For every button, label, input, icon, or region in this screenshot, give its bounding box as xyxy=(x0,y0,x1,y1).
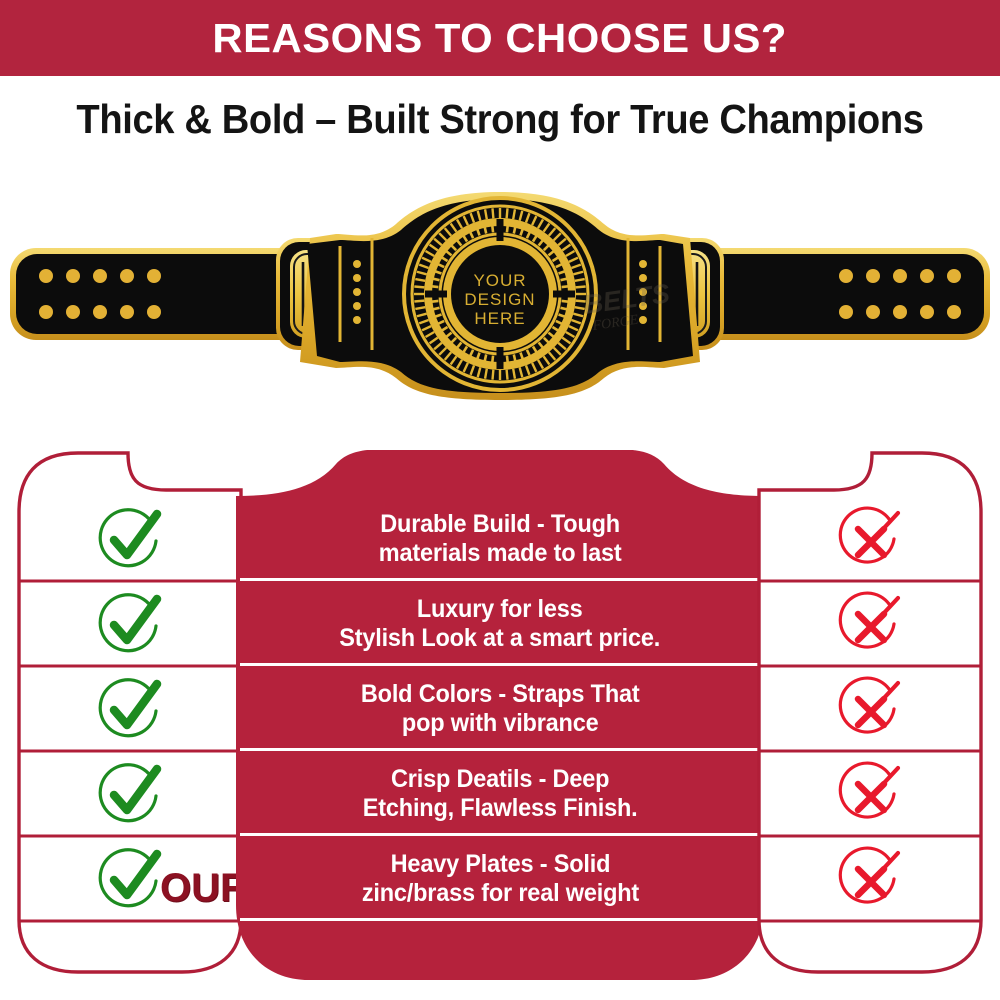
check-circle-icon xyxy=(94,588,166,660)
center-plate-line-1: YOUR xyxy=(473,271,526,290)
feature-text: Durable Build - Tough materials made to … xyxy=(379,510,622,567)
check-circle-icon xyxy=(94,673,166,745)
others-marks xyxy=(756,450,984,975)
others-cell xyxy=(756,496,984,581)
cross-circle-icon xyxy=(834,843,906,915)
belt-svg: YOUR LOGO HERE YOUR LOGO HERE xyxy=(0,186,1000,401)
feature-row: Crisp Deatils - Deep Etching, Flawless F… xyxy=(236,751,764,836)
feature-text: Luxury for less Stylish Look at a smart … xyxy=(340,595,661,652)
feature-row: Bold Colors - Straps That pop with vibra… xyxy=(236,666,764,751)
check-circle-icon xyxy=(94,843,166,915)
row-divider xyxy=(240,918,760,921)
feature-text: Crisp Deatils - Deep Etching, Flawless F… xyxy=(363,765,638,822)
ours-cell xyxy=(16,581,244,666)
banner-title: REASONS TO CHOOSE US? xyxy=(213,15,788,62)
cross-circle-icon xyxy=(834,588,906,660)
others-cell xyxy=(756,836,984,921)
ours-cell xyxy=(16,666,244,751)
cross-circle-icon xyxy=(834,503,906,575)
others-column xyxy=(756,450,984,975)
center-plate-line-2: DESIGN xyxy=(464,290,535,309)
feature-row: Durable Build - Tough materials made to … xyxy=(236,496,764,581)
check-circle-icon xyxy=(94,758,166,830)
feature-text: Heavy Plates - Solid zinc/brass for real… xyxy=(361,850,638,907)
others-cell xyxy=(756,666,984,751)
center-plate-line-3: HERE xyxy=(474,309,525,328)
others-cell xyxy=(756,751,984,836)
cross-circle-icon xyxy=(834,758,906,830)
check-circle-icon xyxy=(94,503,166,575)
feature-text: Bold Colors - Straps That pop with vibra… xyxy=(361,680,640,737)
features-rows: Durable Build - Tough materials made to … xyxy=(236,450,764,984)
championship-belt-image: YOUR LOGO HERE YOUR LOGO HERE xyxy=(0,186,1000,401)
feature-row: Heavy Plates - Solid zinc/brass for real… xyxy=(236,836,764,921)
others-cell xyxy=(756,581,984,666)
features-panel: Durable Build - Tough materials made to … xyxy=(236,450,764,984)
ours-cell xyxy=(16,751,244,836)
comparison-section: OURS OTHERS Durable Build - Tough materi… xyxy=(0,432,1000,977)
infographic-page: REASONS TO CHOOSE US? Thick & Bold – Bui… xyxy=(0,0,1000,1000)
ours-cell xyxy=(16,496,244,581)
header-banner: REASONS TO CHOOSE US? xyxy=(0,0,1000,76)
subheading: Thick & Bold – Built Strong for True Cha… xyxy=(35,96,965,143)
cross-circle-icon xyxy=(834,673,906,745)
feature-row: Luxury for less Stylish Look at a smart … xyxy=(236,581,764,666)
